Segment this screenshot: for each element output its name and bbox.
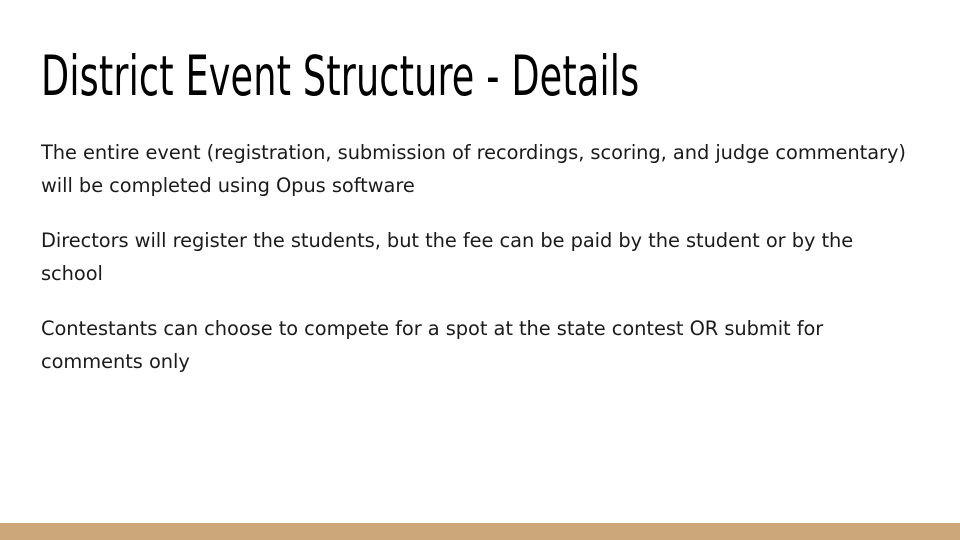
body-paragraph: Directors will register the students, bu… <box>41 224 917 290</box>
slide-body-content: The entire event (registration, submissi… <box>41 136 917 378</box>
page-title: District Event Structure - Details <box>41 46 692 106</box>
footer-accent-bar <box>0 523 960 540</box>
presentation-slide: District Event Structure - Details The e… <box>0 0 960 540</box>
body-paragraph: The entire event (registration, submissi… <box>41 136 917 202</box>
body-paragraph: Contestants can choose to compete for a … <box>41 312 917 378</box>
